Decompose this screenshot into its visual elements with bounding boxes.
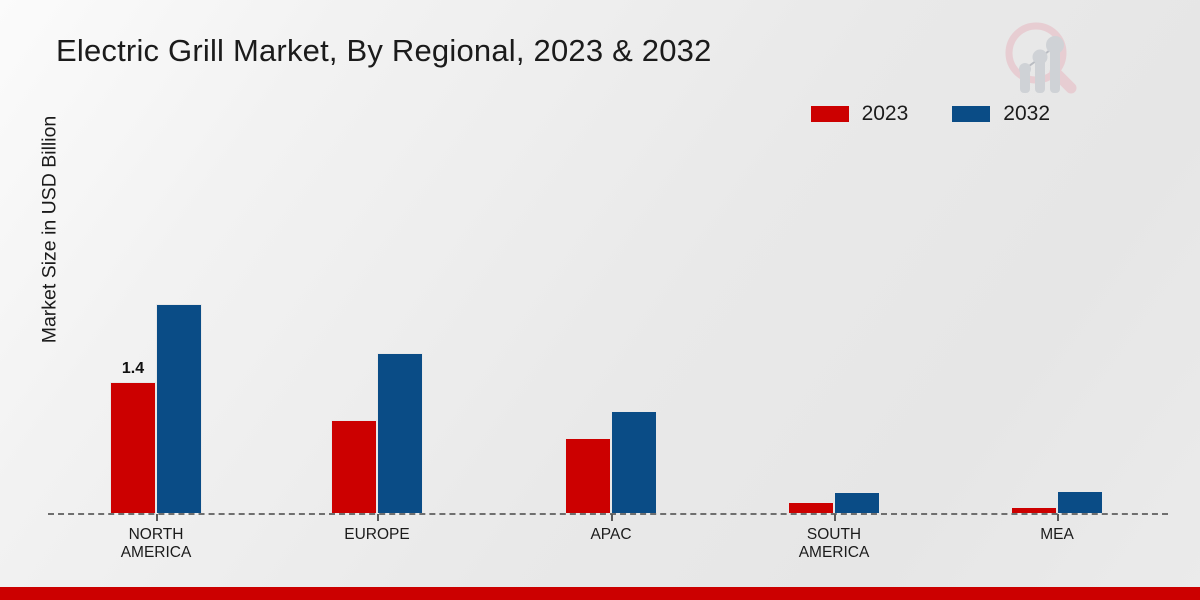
bar-mea-2032[interactable] [1057, 491, 1103, 513]
chart-title: Electric Grill Market, By Regional, 2023… [56, 33, 712, 69]
legend-label-2032: 2032 [1003, 103, 1050, 124]
legend-item-2032[interactable]: 2032 [952, 103, 1050, 124]
category-label-line-1: APAC [501, 526, 721, 544]
category-label-line-2: AMERICA [724, 544, 944, 562]
category-label-line-1: SOUTH [724, 526, 944, 544]
axis-tick-north-america [156, 514, 158, 521]
chart-figure: Electric Grill Market, By Regional, 2023… [0, 0, 1200, 600]
chart-legend: 2023 2032 [811, 103, 1050, 124]
legend-item-2023[interactable]: 2023 [811, 103, 909, 124]
axis-tick-europe [377, 514, 379, 521]
category-label-europe: EUROPE [267, 526, 487, 544]
bar-apac-2032[interactable] [611, 411, 657, 513]
category-label-mea: MEA [947, 526, 1167, 544]
category-label-line-2: AMERICA [46, 544, 266, 562]
bar-south-america-2032[interactable] [834, 492, 880, 513]
axis-tick-apac [611, 514, 613, 521]
bar-europe-2032[interactable] [377, 353, 423, 513]
bar-europe-2023[interactable] [331, 420, 377, 513]
category-label-line-1: NORTH [46, 526, 266, 544]
category-label-apac: APAC [501, 526, 721, 544]
legend-swatch-2023 [811, 106, 849, 122]
category-label-line-1: MEA [947, 526, 1167, 544]
x-axis-baseline [48, 513, 1168, 515]
bar-apac-2023[interactable] [565, 438, 611, 513]
footer-accent-bar [0, 587, 1200, 600]
bar-north-america-2023[interactable]: 1.4 [110, 382, 156, 513]
bar-value-north-america-2023: 1.4 [111, 360, 155, 378]
legend-label-2023: 2023 [862, 103, 909, 124]
bar-south-america-2023[interactable] [788, 502, 834, 513]
legend-swatch-2032 [952, 106, 990, 122]
axis-tick-mea [1057, 514, 1059, 521]
bar-mea-2023[interactable] [1011, 507, 1057, 513]
axis-tick-south-america [834, 514, 836, 521]
category-label-line-1: EUROPE [267, 526, 487, 544]
bar-north-america-2032[interactable] [156, 304, 202, 513]
plot-area: 1.4 NORTH AMERICA EUROPE [48, 150, 1168, 514]
market-research-magnifier-logo-icon [995, 14, 1083, 102]
category-label-north-america: NORTH AMERICA [46, 526, 266, 562]
category-label-south-america: SOUTH AMERICA [724, 526, 944, 562]
